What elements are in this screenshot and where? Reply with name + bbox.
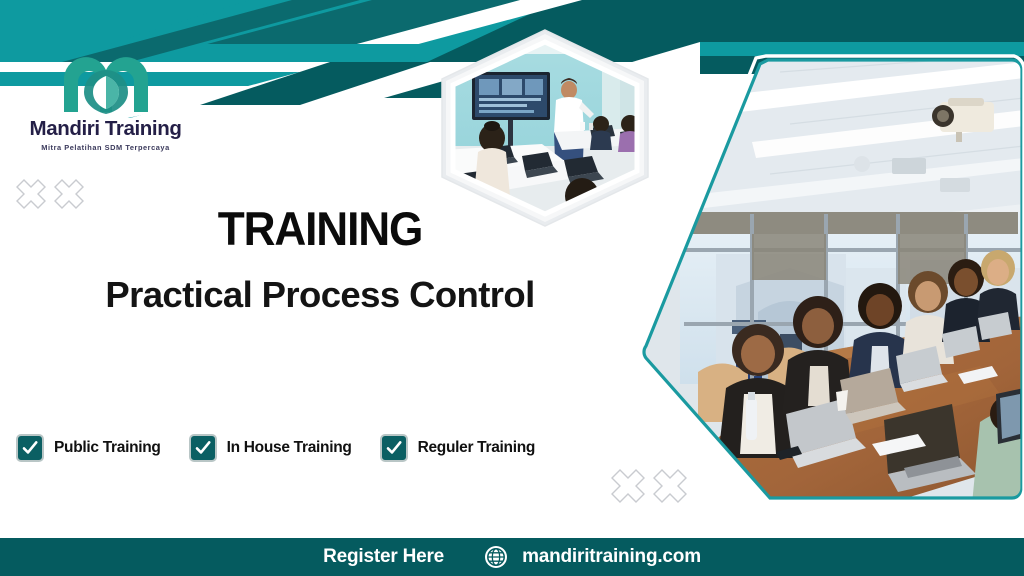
register-here-label[interactable]: Register Here — [323, 546, 444, 568]
hex-photo-frame — [434, 28, 656, 228]
checkbox-checked-icon[interactable] — [189, 434, 217, 462]
globe-icon-svg — [484, 545, 508, 569]
footer-bar: Register Here mandiritraining.com — [0, 538, 1024, 576]
checkbox-checked-icon[interactable] — [380, 434, 408, 462]
check-mark-icon — [385, 439, 403, 457]
mandiri-m-monogram-icon — [56, 52, 156, 114]
option-label: Public Training — [54, 439, 161, 457]
logo-name: Mandiri Training — [18, 118, 193, 140]
globe-icon — [484, 545, 508, 569]
check-mark-icon — [194, 439, 212, 457]
training-classroom-photo — [434, 28, 656, 228]
list-item[interactable]: In House Training — [189, 434, 352, 462]
conference-photo-frame: R — [640, 54, 1024, 504]
option-label: In House Training — [227, 439, 352, 457]
website-url[interactable]: mandiritraining.com — [522, 546, 701, 568]
page-subtitle: Practical Process Control — [0, 276, 640, 314]
training-options-list: Public Training In House Training Regule… — [16, 434, 535, 462]
list-item[interactable]: Reguler Training — [380, 434, 536, 462]
training-poster: Mandiri Training Mitra Pelatihan SDM Ter… — [0, 0, 1024, 576]
checkbox-checked-icon[interactable] — [16, 434, 44, 462]
option-label: Reguler Training — [418, 439, 536, 457]
check-mark-icon — [21, 439, 39, 457]
conference-room-photo: R — [640, 54, 1024, 504]
logo-tagline: Mitra Pelatihan SDM Terpercaya — [18, 143, 193, 152]
brand-logo[interactable]: Mandiri Training Mitra Pelatihan SDM Ter… — [18, 52, 193, 152]
list-item[interactable]: Public Training — [16, 434, 161, 462]
